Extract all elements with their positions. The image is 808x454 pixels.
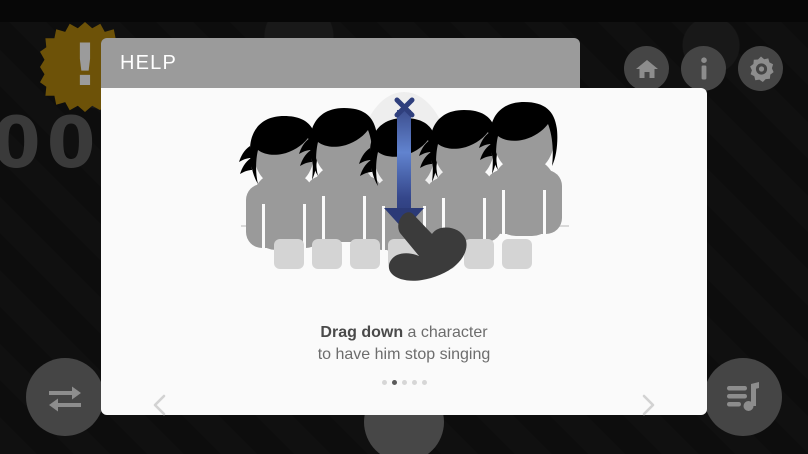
help-dialog-body: Drag down a character to have him stop s… — [101, 88, 707, 415]
home-icon — [635, 58, 659, 80]
home-button[interactable] — [624, 46, 669, 91]
shuffle-icon — [45, 380, 85, 414]
gear-icon — [748, 56, 774, 82]
caption-strong: Drag down — [320, 324, 403, 341]
caption-line-1-rest: a character — [403, 324, 487, 341]
help-dialog-header: HELP — [101, 38, 580, 88]
next-slide-button[interactable] — [634, 393, 662, 421]
shuffle-button[interactable] — [26, 358, 104, 436]
pager-dot[interactable] — [382, 380, 387, 385]
exclamation-icon: ! — [72, 36, 98, 94]
background-top-strip — [0, 0, 808, 22]
pager-dot[interactable] — [412, 380, 417, 385]
caption-line-1: Drag down a character — [101, 322, 707, 344]
settings-button[interactable] — [738, 46, 783, 91]
playlist-button[interactable] — [704, 358, 782, 436]
info-icon — [699, 57, 709, 81]
score-display: 00 — [0, 108, 101, 178]
chevron-left-icon — [152, 393, 168, 422]
help-dialog-title: HELP — [101, 52, 177, 75]
pager-dot[interactable] — [422, 380, 427, 385]
caption: Drag down a character to have him stop s… — [101, 322, 707, 366]
caption-line-2: to have him stop singing — [101, 344, 707, 366]
pager-dot[interactable] — [402, 380, 407, 385]
previous-slide-button[interactable] — [146, 393, 174, 421]
drag-down-character-illustration — [101, 88, 707, 313]
playlist-icon — [723, 379, 763, 415]
chevron-right-icon — [640, 393, 656, 422]
info-button[interactable] — [681, 46, 726, 91]
pager-dots[interactable] — [101, 380, 707, 385]
pager-dot-active[interactable] — [392, 380, 397, 385]
